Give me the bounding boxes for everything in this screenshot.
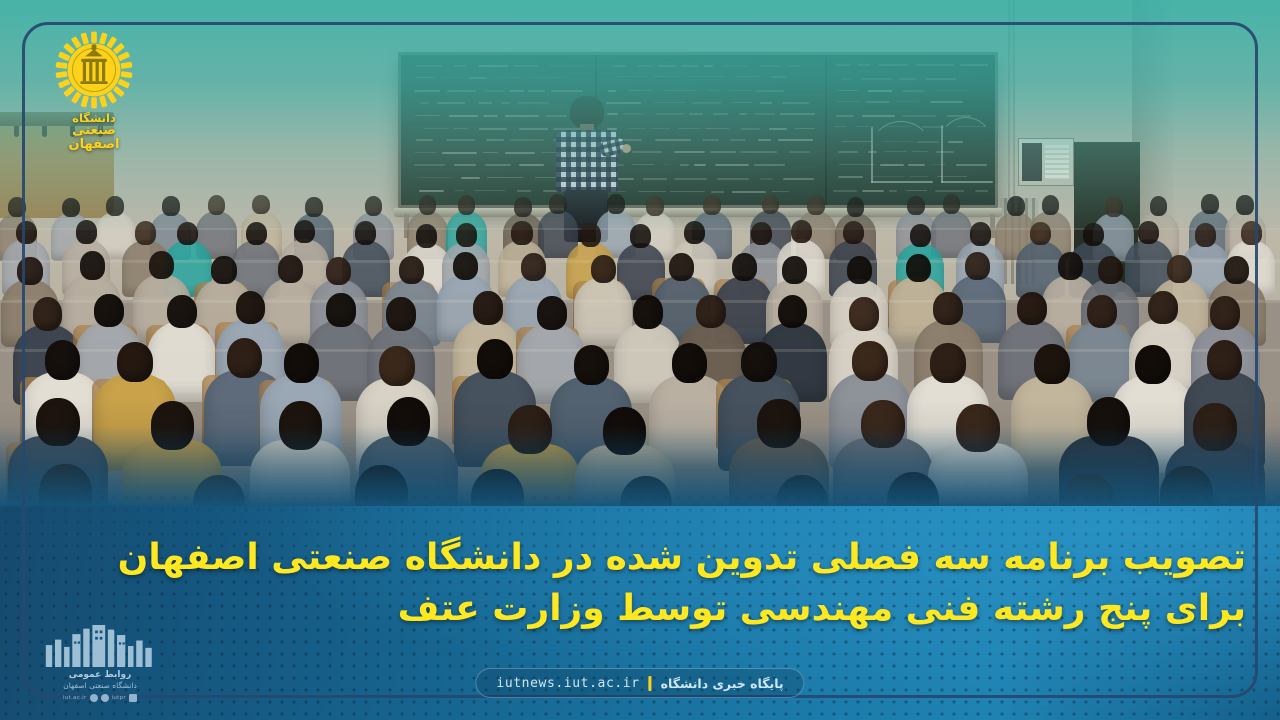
- instagram-icon: [129, 694, 137, 702]
- telegram-icon: [101, 694, 109, 702]
- university-logo: دانشگاه صنعتی اصفهان: [48, 30, 140, 155]
- logo-line-3: اصفهان: [48, 138, 140, 152]
- footer-separator: [649, 676, 652, 691]
- news-banner: دانشگاه صنعتی اصفهان تصویب برنامه سه فصل…: [0, 0, 1280, 720]
- footer-site-label: پایگاه خبری دانشگاه: [661, 676, 784, 691]
- headline: تصویب برنامه سه فصلی تدوین شده در دانشگا…: [82, 532, 1246, 634]
- university-logo-text: دانشگاه صنعتی اصفهان: [48, 112, 140, 152]
- logo-line-2: صنعتی: [48, 124, 140, 138]
- footer-site-pill[interactable]: پایگاه خبری دانشگاه iutnews.iut.ac.ir: [475, 668, 804, 698]
- pr-line-1: روابط عمومی: [46, 670, 154, 681]
- pr-social-icons: iutpr iut.ac.ir: [46, 694, 154, 702]
- teal-tint-overlay: [0, 0, 1280, 230]
- social-handle-text-2: iut.ac.ir: [63, 695, 87, 701]
- iut-gear-emblem-icon: [54, 30, 134, 110]
- public-relations-logo: روابط عمومی دانشگاه صنعتی اصفهان iutpr i…: [46, 625, 154, 702]
- headline-line-2: برای پنج رشته فنی مهندسی توسط وزارت عتف: [82, 583, 1246, 634]
- eitaa-icon: [90, 694, 98, 702]
- pr-building-icon: [44, 625, 154, 667]
- headline-line-1: تصویب برنامه سه فصلی تدوین شده در دانشگا…: [82, 532, 1246, 583]
- pr-line-2: دانشگاه صنعتی اصفهان: [46, 681, 154, 691]
- social-handle-text: iutpr: [112, 695, 126, 701]
- footer-url[interactable]: iutnews.iut.ac.ir: [496, 676, 639, 691]
